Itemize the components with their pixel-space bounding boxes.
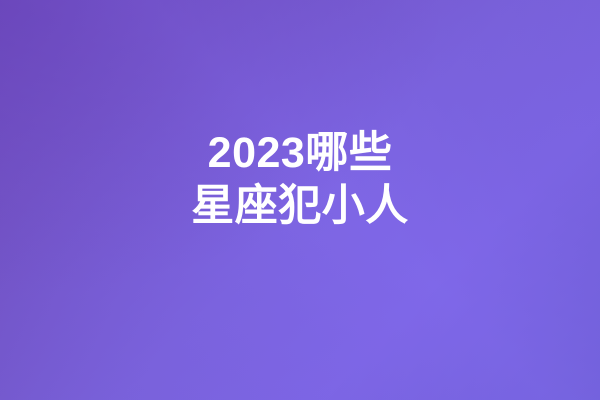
title-line-1: 2023哪些 — [208, 127, 393, 180]
title-block: 2023哪些 星座犯小人 — [0, 0, 600, 400]
title-line-2: 星座犯小人 — [191, 180, 409, 233]
title-card: 2023哪些 星座犯小人 — [0, 0, 600, 400]
